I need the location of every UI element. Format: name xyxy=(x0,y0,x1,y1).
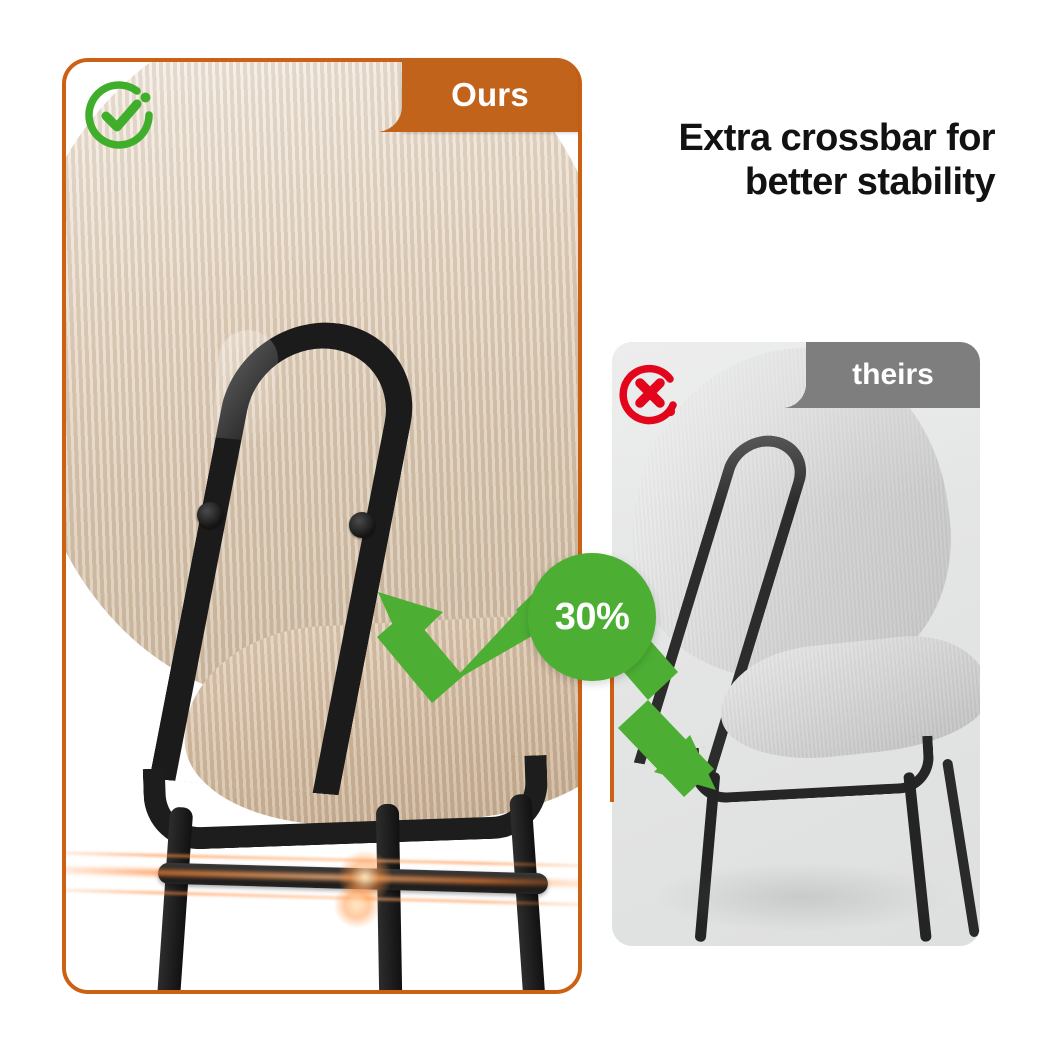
ours-product-photo xyxy=(66,62,578,990)
headline-line-2: better stability xyxy=(575,160,995,204)
headline-line-1: Extra crossbar for xyxy=(575,116,995,160)
panel-divider-tick xyxy=(610,676,614,802)
ours-frame-screw-right xyxy=(349,512,375,538)
ours-panel xyxy=(62,58,582,994)
crossbar-glow-streak xyxy=(62,851,582,869)
page-title: Extra crossbar for better stability xyxy=(575,116,995,205)
theirs-badge: theirs xyxy=(806,342,980,408)
check-circle-icon xyxy=(83,78,159,154)
ours-badge-label: Ours xyxy=(451,76,529,114)
stat-bubble-30-percent: 30% xyxy=(528,553,656,681)
stat-bubble-value: 30% xyxy=(555,596,630,639)
ours-chair-leg-front-left xyxy=(154,806,194,994)
ours-frame-screw-left xyxy=(197,502,223,528)
x-circle-icon xyxy=(615,358,685,428)
ours-chair-frame-base xyxy=(143,755,550,851)
theirs-badge-label: theirs xyxy=(852,358,934,392)
theirs-chair-frame-base xyxy=(689,736,936,805)
ours-crossbar xyxy=(158,863,548,895)
theirs-panel xyxy=(612,342,980,946)
ours-chair-leg-front-right xyxy=(376,804,403,994)
theirs-chair-shadow xyxy=(652,862,952,932)
theirs-product-photo xyxy=(612,342,980,946)
ours-badge: Ours xyxy=(402,58,578,132)
infographic-canvas: Extra crossbar for better stability thei… xyxy=(0,0,1050,1050)
